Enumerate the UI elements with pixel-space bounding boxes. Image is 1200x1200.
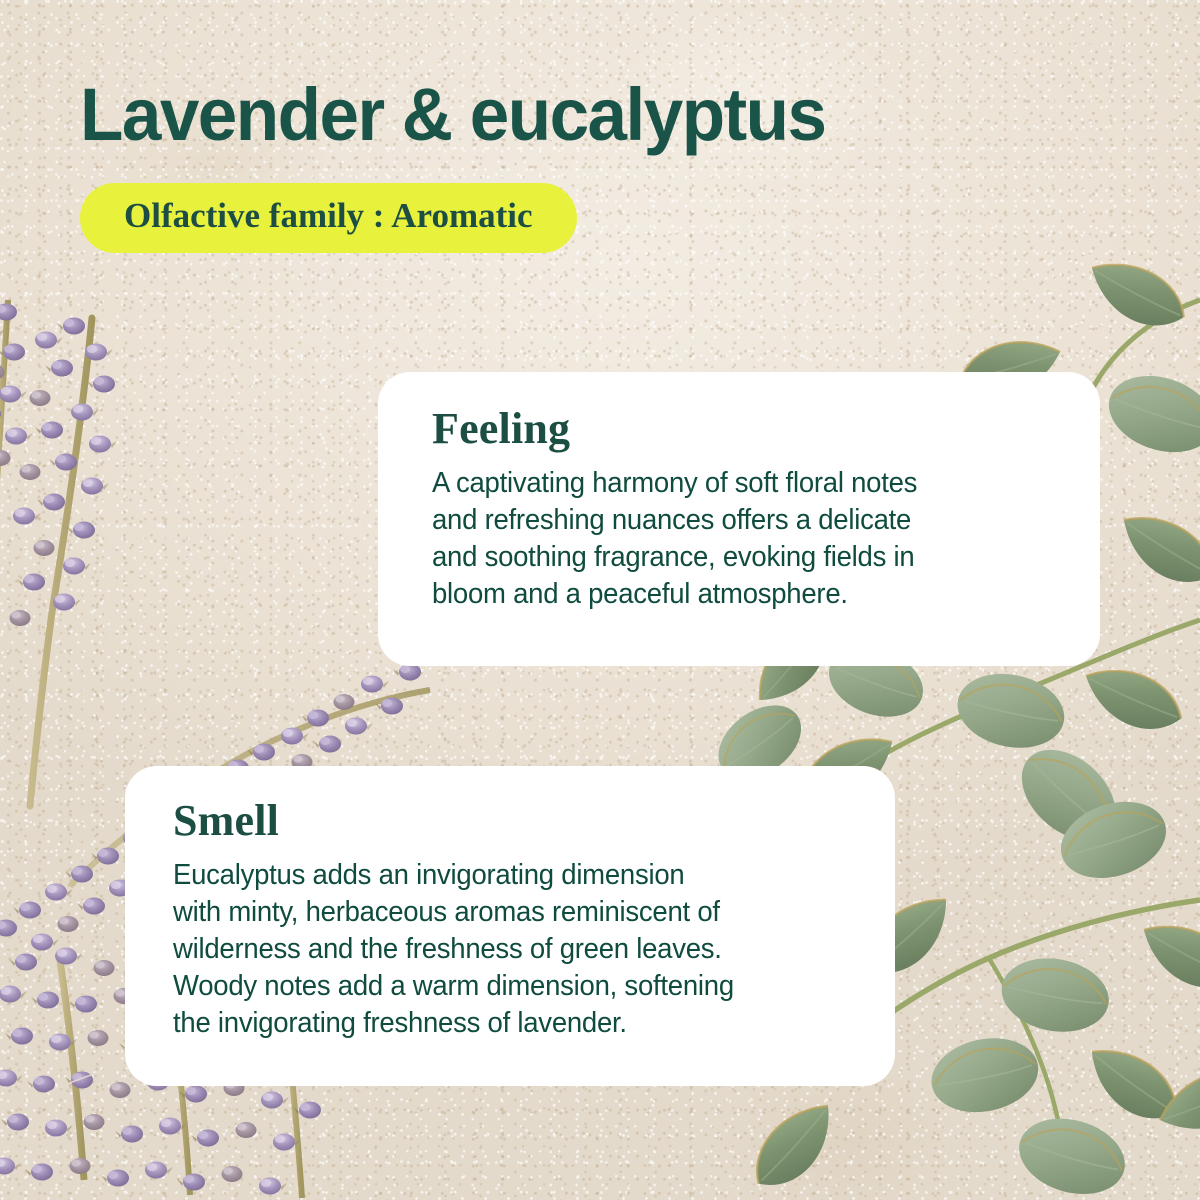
smell-line: Woody notes add a warm dimension, soften… — [173, 968, 821, 1005]
smell-line: Eucalyptus adds an invigorating dimensio… — [173, 857, 821, 894]
feeling-card-body: A captivating harmony of soft floral not… — [432, 465, 1026, 613]
feeling-line: and soothing fragrance, evoking fields i… — [432, 539, 1026, 576]
page-title: Lavender & eucalyptus — [80, 78, 1059, 152]
smell-card-heading: Smell — [173, 796, 845, 847]
feeling-line: and refreshing nuances offers a delicate — [432, 502, 1026, 539]
feeling-card-heading: Feeling — [432, 404, 1048, 455]
smell-line: wilderness and the freshness of green le… — [173, 931, 821, 968]
smell-line: the invigorating freshness of lavender. — [173, 1005, 821, 1042]
feeling-card: Feeling A captivating harmony of soft fl… — [378, 372, 1100, 666]
feeling-line: bloom and a peaceful atmosphere. — [432, 576, 1026, 613]
olfactive-family-badge: Olfactive family : Aromatic — [80, 183, 577, 253]
smell-card: Smell Eucalyptus adds an invigorating di… — [125, 766, 895, 1086]
feeling-line: A captivating harmony of soft floral not… — [432, 465, 1026, 502]
header-block: Lavender & eucalyptus Olfactive family :… — [80, 78, 1100, 253]
product-info-card: Lavender & eucalyptus Olfactive family :… — [0, 0, 1200, 1200]
smell-card-body: Eucalyptus adds an invigorating dimensio… — [173, 857, 821, 1042]
smell-line: with minty, herbaceous aromas reminiscen… — [173, 894, 821, 931]
